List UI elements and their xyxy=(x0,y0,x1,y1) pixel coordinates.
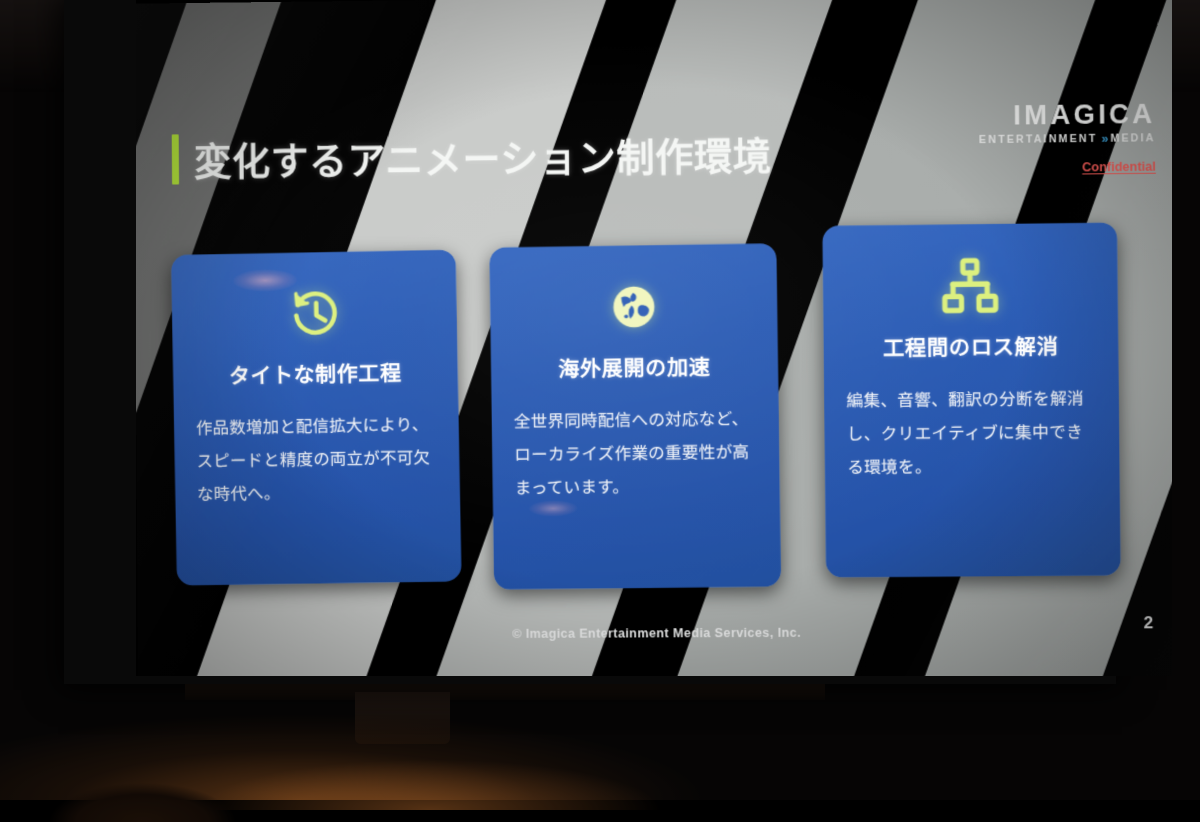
card-title: 工程間のロス解消 xyxy=(883,331,1059,363)
card-body: 作品数増加と配信拡大により、スピードと精度の両立が不可欠な時代へ。 xyxy=(196,409,439,512)
card-grid: タイトな制作工程 作品数増加と配信拡大により、スピードと精度の両立が不可欠な時代… xyxy=(136,0,1172,676)
display-screen: 変化するアニメーション制作環境 IMAGICA ENTERTAINMENT » … xyxy=(136,0,1172,676)
display-bezel: 変化するアニメーション制作環境 IMAGICA ENTERTAINMENT » … xyxy=(64,0,1116,684)
room-environment: 変化するアニメーション制作環境 IMAGICA ENTERTAINMENT » … xyxy=(0,0,1200,800)
tv-leg xyxy=(355,692,450,744)
globe-icon xyxy=(608,275,659,338)
clock-rotate-left-icon xyxy=(286,282,343,345)
card-title: 海外展開の加速 xyxy=(558,351,711,383)
audience-head-silhouette xyxy=(35,752,250,822)
info-card-tight-schedule[interactable]: タイトな制作工程 作品数増加と配信拡大により、スピードと精度の両立が不可欠な時代… xyxy=(171,250,462,586)
presentation-slide: 変化するアニメーション制作環境 IMAGICA ENTERTAINMENT » … xyxy=(136,0,1172,676)
info-card-process-loss[interactable]: 工程間のロス解消 編集、音響、翻訳の分断を解消し、クリエイティブに集中できる環境… xyxy=(822,222,1120,577)
info-card-global-expansion[interactable]: 海外展開の加速 全世界同時配信への対応など、ローカライズ作業の重要性が高まってい… xyxy=(489,243,781,589)
sitemap-icon xyxy=(938,254,1002,317)
card-body: 全世界同時配信への対応など、ローカライズ作業の重要性が高まっています。 xyxy=(514,403,758,506)
card-title: タイトな制作工程 xyxy=(229,357,402,390)
card-body: 編集、音響、翻訳の分断を解消し、クリエイティブに集中できる環境を。 xyxy=(846,383,1097,485)
